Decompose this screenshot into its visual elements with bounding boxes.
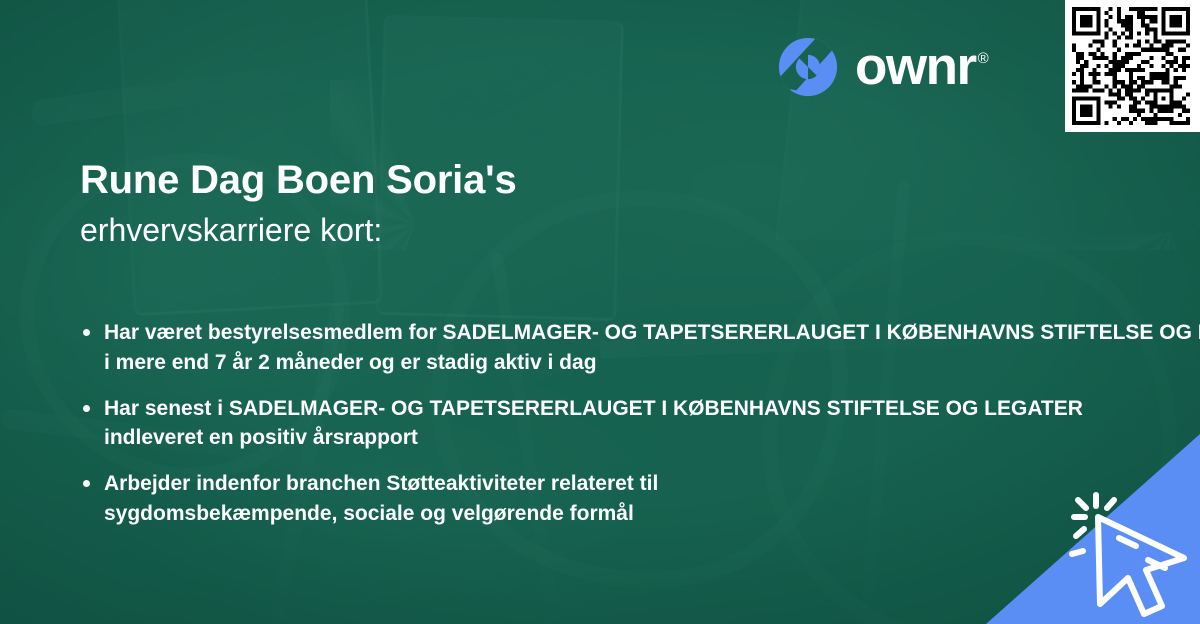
bullet-icon (83, 329, 90, 336)
list-item: Har været bestyrelsesmedlem for SADELMAG… (80, 318, 1200, 378)
corner-accent (986, 434, 1200, 624)
ownr-wordmark-text: ownr (855, 43, 976, 91)
ownr-wordmark: ownr ® (855, 43, 989, 91)
page-subtitle: erhvervskarriere kort: (80, 211, 1160, 249)
click-cursor-icon (1062, 486, 1194, 622)
qr-code-panel[interactable] (1065, 0, 1200, 132)
heading-block: Rune Dag Boen Soria's erhvervskarriere k… (80, 158, 1160, 249)
bullet-icon (83, 480, 90, 487)
business-career-card: ownr ® Rune Dag Boen Soria's erhvervskar… (0, 0, 1200, 624)
fact-line-1: Har senest i SADELMAGER- OG TAPETSERERLA… (104, 397, 1083, 420)
ownr-logo: ownr ® (777, 36, 989, 98)
qr-code-icon[interactable] (1072, 7, 1190, 125)
fact-line-1: Har været bestyrelsesmedlem for SADELMAG… (104, 321, 1200, 344)
bullet-icon (83, 405, 90, 412)
page-title: Rune Dag Boen Soria's (80, 158, 1160, 203)
ownr-swirl-logo-icon (777, 36, 839, 98)
registered-trademark-symbol: ® (978, 51, 989, 66)
fact-line-1: Arbejder indenfor branchen Støtteaktivit… (104, 472, 658, 495)
fact-line-2: i mere end 7 år 2 måneder og er stadig a… (104, 348, 1200, 378)
